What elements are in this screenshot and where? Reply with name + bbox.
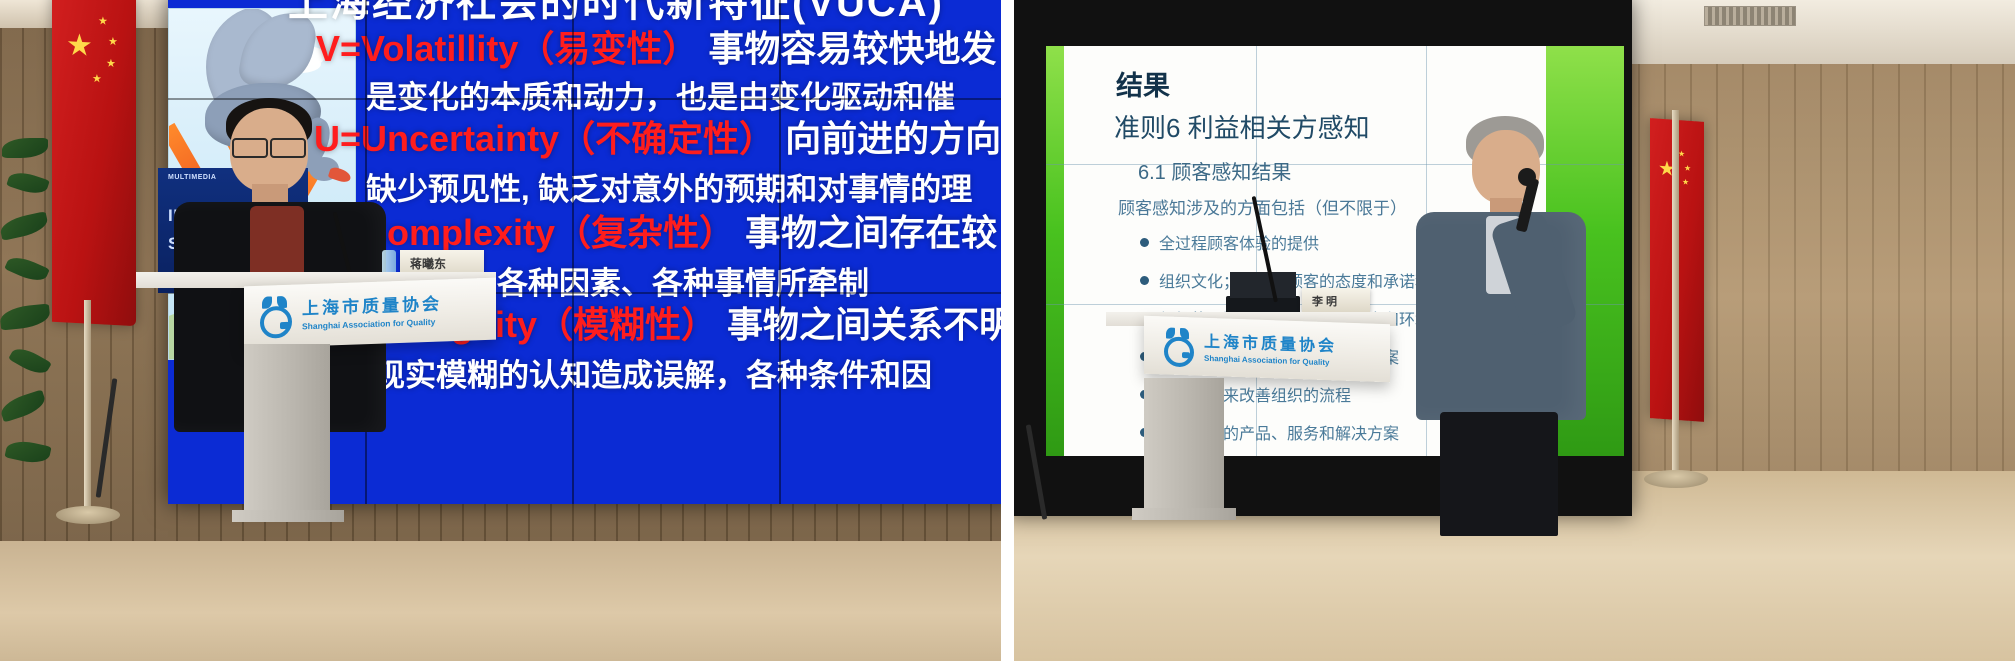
left-lectern-column bbox=[244, 344, 330, 522]
slide-bullet-1: 全过程顾客体验的提供 bbox=[1140, 230, 1319, 254]
left-speaker-glasses bbox=[232, 138, 268, 158]
flag-star-2: ★ bbox=[1684, 164, 1691, 173]
slide-line-v: V=Volatillity（易变性）事物容易较快地发 bbox=[316, 20, 996, 72]
slide-section-right: 6.1 顾客感知结果 bbox=[1138, 156, 1291, 185]
left-lectern-base bbox=[232, 510, 344, 522]
right-lectern: 李 明 上海市质量协会 Shanghai Association for Qua… bbox=[1076, 312, 1396, 522]
left-speaker-glasses-2 bbox=[270, 138, 306, 158]
ceiling-vent-2 bbox=[1704, 6, 1796, 26]
slide-line-u2: 缺少预见性, 缺乏对意外的预期和对事情的理 bbox=[366, 164, 972, 209]
flag-star-3: ★ bbox=[106, 59, 116, 71]
right-lectern-logo: 上海市质量协会 Shanghai Association for Quality bbox=[1162, 326, 1337, 367]
saq-logo-icon bbox=[258, 295, 292, 332]
flag-star-3: ★ bbox=[1682, 178, 1689, 187]
left-lectern-face: 上海市质量协会 Shanghai Association for Quality bbox=[244, 278, 496, 349]
flag-star-1: ★ bbox=[98, 16, 108, 28]
flag-pole-left bbox=[84, 300, 91, 518]
flag-star-large: ★ bbox=[66, 31, 93, 62]
microphone-head-icon bbox=[1518, 168, 1536, 186]
right-lectern-column bbox=[1144, 378, 1224, 520]
left-lectern-logo: 上海市质量协会 Shanghai Association for Quality bbox=[258, 289, 442, 332]
right-speaker bbox=[1410, 116, 1630, 536]
left-lectern: 蒋曦东 上海市质量协会 Shanghai Association for Qua… bbox=[136, 272, 496, 522]
flag-star-1: ★ bbox=[1678, 150, 1685, 159]
flag-star-4: ★ bbox=[92, 74, 102, 86]
photo-divider bbox=[1001, 0, 1014, 661]
flag-base-right bbox=[1644, 470, 1708, 488]
flag-star-2: ★ bbox=[108, 37, 118, 49]
right-speaker-trousers bbox=[1440, 412, 1558, 536]
potted-plant-left bbox=[0, 130, 70, 520]
bullet-dot-icon bbox=[1140, 276, 1149, 285]
bullet-dot-icon bbox=[1140, 238, 1149, 247]
left-photo: ★ ★ ★ ★ ★ bbox=[0, 0, 1001, 661]
right-photo: 结果 准则6 利益相关方感知 6.1 顾客感知结果 顾客感知涉及的方面包括（但不… bbox=[1014, 0, 2015, 661]
right-lectern-base bbox=[1132, 508, 1236, 520]
photo-pair: ★ ★ ★ ★ ★ bbox=[0, 0, 2015, 661]
flag-pole-right bbox=[1672, 110, 1679, 480]
floor-left bbox=[0, 541, 1001, 661]
right-lectern-face: 上海市质量协会 Shanghai Association for Quality bbox=[1144, 316, 1390, 383]
right-nameplate: 李 明 bbox=[1302, 288, 1370, 312]
slide-heading-right: 准则6 利益相关方感知 bbox=[1114, 108, 1370, 145]
slide-title-right: 结果 bbox=[1116, 64, 1170, 103]
saq-logo-icon bbox=[1162, 327, 1194, 362]
slide-lead-right: 顾客感知涉及的方面包括（但不限于） bbox=[1118, 194, 1407, 219]
